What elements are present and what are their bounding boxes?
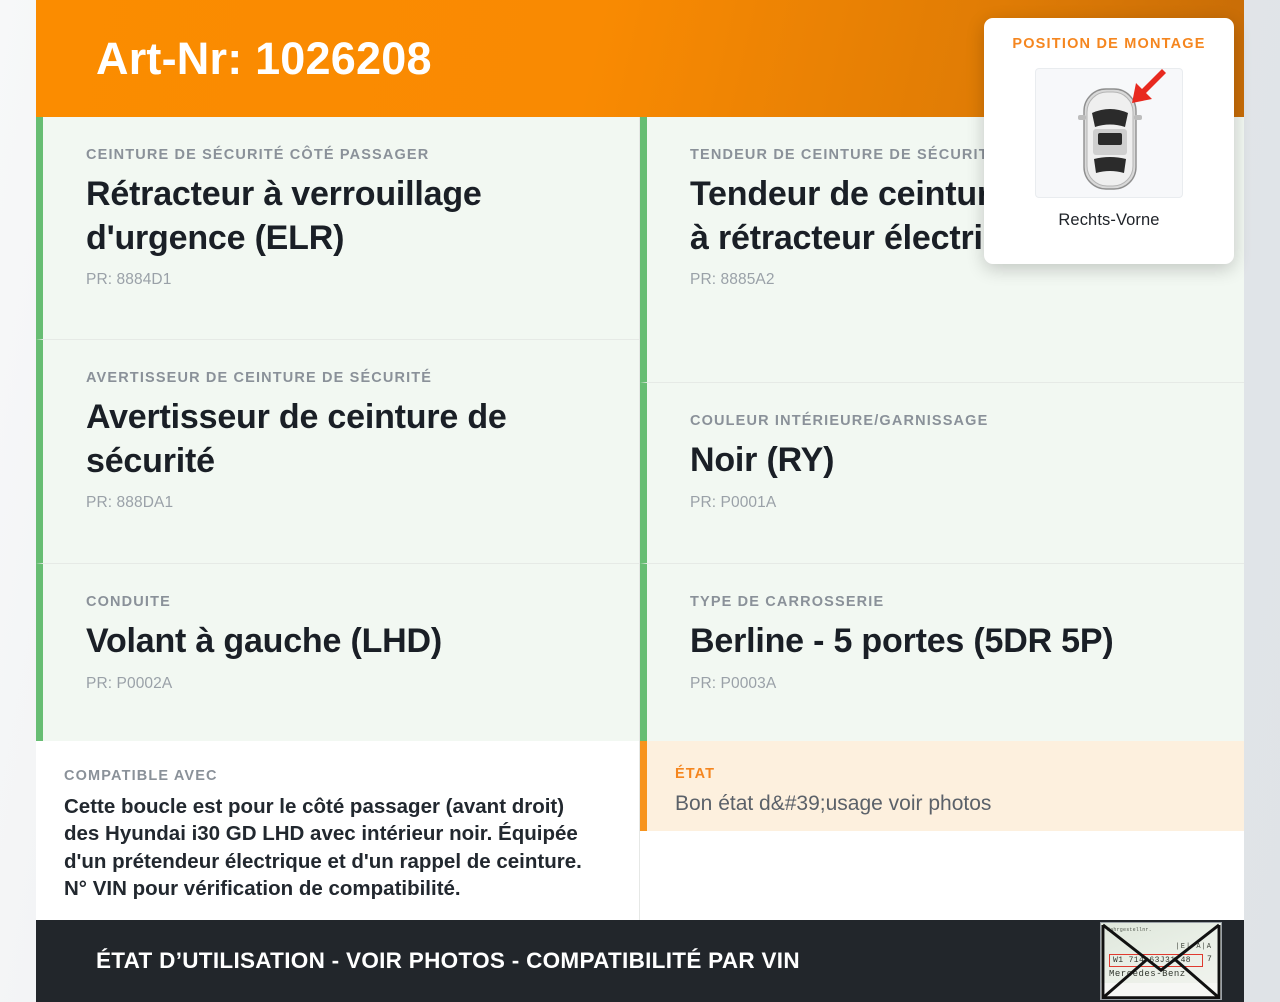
spec-pr-code: PR: P0002A xyxy=(86,675,613,693)
car-top-view-icon xyxy=(1036,69,1184,199)
spec-card-seatbelt-passenger: CEINTURE DE SÉCURITÉ CÔTÉ PASSAGER Rétra… xyxy=(36,117,639,339)
spec-card-body-type: TYPE DE CARROSSERIE Berline - 5 portes (… xyxy=(640,563,1244,741)
spec-card-interior-colour: COULEUR INTÉRIEURE/GARNISSAGE Noir (RY) … xyxy=(640,382,1244,563)
spec-label: AVERTISSEUR DE CEINTURE DE SÉCURITÉ xyxy=(86,370,613,387)
spec-pr-code: PR: P0001A xyxy=(690,494,1218,512)
spec-label: COULEUR INTÉRIEURE/GARNISSAGE xyxy=(690,413,1218,430)
condition-block: ÉTAT Bon état d&#39;usage voir photos xyxy=(640,741,1244,831)
mounting-position-title: POSITION DE MONTAGE xyxy=(1012,36,1205,52)
compatibility-label: COMPATIBLE AVEC xyxy=(64,768,604,784)
compatibility-text: Cette boucle est pour le côté passager (… xyxy=(64,793,604,903)
spec-value: Rétracteur à verrouillage d'urgence (ELR… xyxy=(86,173,613,260)
spec-label: CEINTURE DE SÉCURITÉ CÔTÉ PASSAGER xyxy=(86,147,613,164)
spec-card-steering-side: CONDUITE Volant à gauche (LHD) PR: P0002… xyxy=(36,563,639,741)
vin-document-thumbnail: Fahrgestellnr. |E| A|A W1 714 63J31 48 7… xyxy=(1100,922,1222,1000)
spec-pr-code: PR: 8885A2 xyxy=(690,271,1218,289)
info-row: COMPATIBLE AVEC Cette boucle est pour le… xyxy=(36,741,1244,920)
mounting-position-diagram xyxy=(1035,68,1183,198)
spec-column-left: CEINTURE DE SÉCURITÉ CÔTÉ PASSAGER Rétra… xyxy=(36,117,640,741)
condition-text: Bon état d&#39;usage voir photos xyxy=(675,790,1214,817)
mounting-position-caption: Rechts-Vorne xyxy=(1058,211,1159,230)
spec-value: Berline - 5 portes (5DR 5P) xyxy=(690,620,1218,664)
spec-value: Avertisseur de ceinture de sécurité xyxy=(86,396,613,483)
compatibility-block: COMPATIBLE AVEC Cette boucle est pour le… xyxy=(36,741,639,920)
spec-pr-code: PR: 888DA1 xyxy=(86,494,613,512)
spec-label: CONDUITE xyxy=(86,594,613,611)
spec-pr-code: PR: 8884D1 xyxy=(86,271,613,289)
spec-value: Noir (RY) xyxy=(690,439,1218,483)
envelope-icon xyxy=(1101,923,1221,1000)
compatibility-column: COMPATIBLE AVEC Cette boucle est pour le… xyxy=(36,741,640,920)
footer-bar: ÉTAT D’UTILISATION - VOIR PHOTOS - COMPA… xyxy=(36,920,1244,1002)
spec-pr-code: PR: P0003A xyxy=(690,675,1218,693)
spec-card-seatbelt-warning: AVERTISSEUR DE CEINTURE DE SÉCURITÉ Aver… xyxy=(36,339,639,563)
spec-label: TYPE DE CARROSSERIE xyxy=(690,594,1218,611)
page-title: Art-Nr: 1026208 xyxy=(96,36,432,81)
condition-label: ÉTAT xyxy=(675,766,1214,782)
mounting-position-card: POSITION DE MONTAGE xyxy=(984,18,1234,264)
condition-column: ÉTAT Bon état d&#39;usage voir photos xyxy=(640,741,1244,920)
red-arrow-icon xyxy=(1132,69,1166,103)
spec-value: Volant à gauche (LHD) xyxy=(86,620,613,664)
footer-text: ÉTAT D’UTILISATION - VOIR PHOTOS - COMPA… xyxy=(96,948,800,974)
